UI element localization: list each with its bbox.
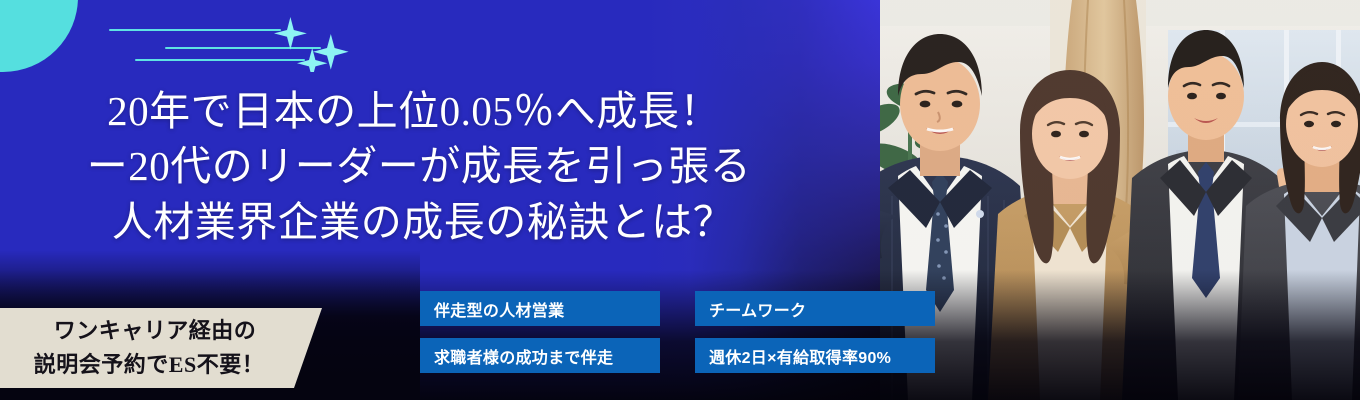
ribbon-line-1: ワンキャリア経由の (54, 314, 269, 348)
recruitment-banner: 20年で日本の上位0.05％へ成長！ ー20代のリーダーが成長を引っ張る 人材業… (0, 0, 1360, 400)
ribbon-line-2: 説明会予約でES不要！ (34, 348, 288, 382)
tag-chip: 伴走型の人材営業 (420, 291, 660, 326)
headline: 20年で日本の上位0.05％へ成長！ ー20代のリーダーが成長を引っ張る 人材業… (0, 84, 820, 250)
tag-chip: 求職者様の成功まで伴走 (420, 338, 660, 373)
tag-column-right: チームワーク 週休2日×有給取得率90% (695, 291, 935, 373)
headline-line-1: 20年で日本の上位0.05％へ成長！ (0, 84, 820, 138)
tag-chip: チームワーク (695, 291, 935, 326)
headline-line-3: 人材業界企業の成長の秘訣とは？ (0, 194, 820, 250)
headline-line-2: ー20代のリーダーが成長を引っ張る (0, 138, 820, 194)
es-free-ribbon: ワンキャリア経由の 説明会予約でES不要！ (0, 308, 322, 388)
tag-chip: 週休2日×有給取得率90% (695, 338, 935, 373)
shooting-star-lines-icon (108, 8, 358, 72)
tag-column-left: 伴走型の人材営業 求職者様の成功まで伴走 (420, 291, 660, 373)
